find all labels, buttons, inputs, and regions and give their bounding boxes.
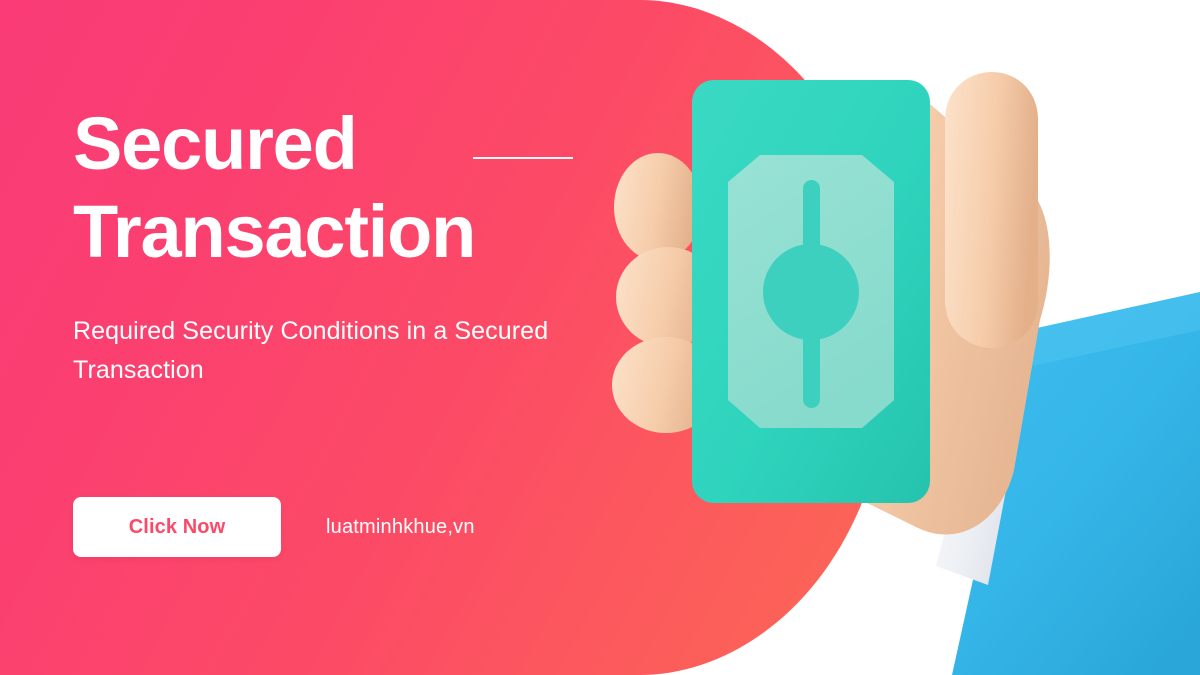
promo-banner: Secured Transaction Required Security Co… [0, 0, 1200, 675]
subtitle-text: Required Security Conditions in a Secure… [73, 312, 573, 390]
page-title: Secured Transaction [73, 100, 633, 276]
headline-line-2: Transaction [73, 188, 633, 276]
site-url-label: luatminhkhue,vn [326, 516, 475, 539]
banknote-center-circle [763, 244, 859, 340]
headline-rule-divider [473, 157, 573, 159]
hand-holding-banknote-illustration [600, 0, 1200, 675]
thumb-group [945, 72, 1038, 348]
banknote-bottom-bar [803, 330, 820, 408]
banknote-group [692, 80, 930, 503]
banner-content: Secured Transaction Required Security Co… [73, 0, 633, 675]
cta-row: Click Now luatminhkhue,vn [73, 497, 475, 557]
click-now-button[interactable]: Click Now [73, 497, 281, 557]
headline-line-1: Secured [73, 100, 633, 188]
